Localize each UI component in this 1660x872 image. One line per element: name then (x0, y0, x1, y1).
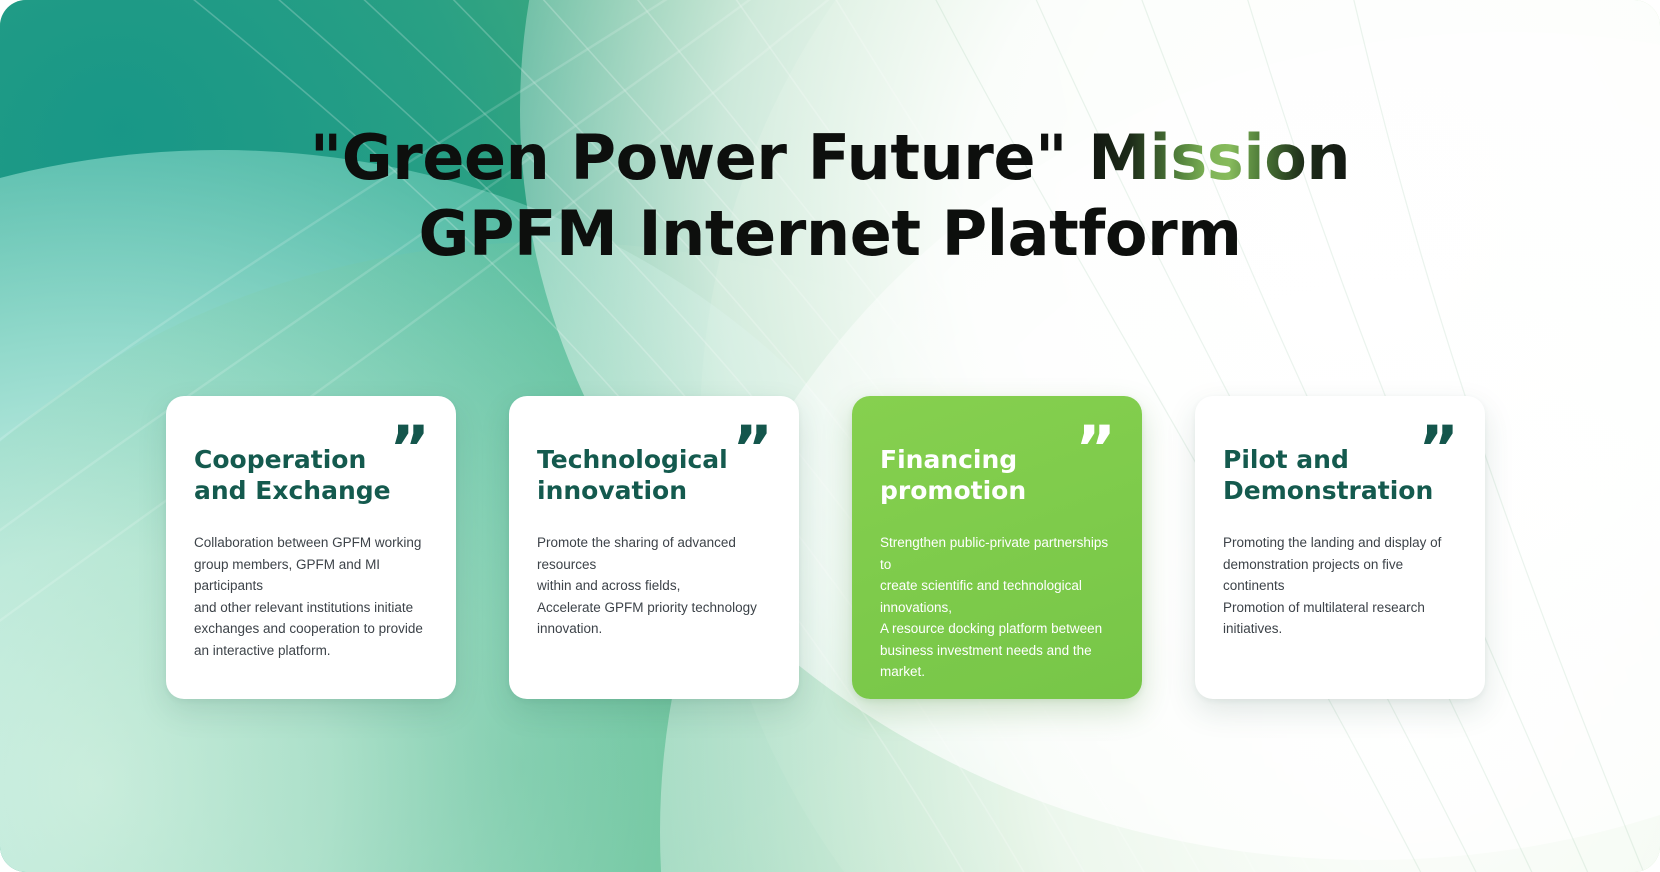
quote-mark-icon: ” (1418, 418, 1459, 480)
feature-card-list: ” Cooperation and Exchange Collaboration… (166, 396, 1485, 699)
feature-card-cooperation-and-exchange[interactable]: ” Cooperation and Exchange Collaboration… (166, 396, 456, 699)
card-body: Promoting the landing and display of dem… (1223, 532, 1457, 640)
quote-mark-icon: ” (732, 418, 773, 480)
card-body: Strengthen public-private partnerships t… (880, 532, 1114, 683)
quote-mark-icon: ” (1075, 418, 1116, 480)
quote-mark-icon: ” (389, 418, 430, 480)
slide-canvas: "Green Power Future" Mission GPFM Intern… (0, 0, 1660, 872)
card-body: Collaboration between GPFM working group… (194, 532, 428, 661)
feature-card-pilot-and-demonstration[interactable]: ” Pilot and Demonstration Promoting the … (1195, 396, 1485, 699)
feature-card-financing-promotion[interactable]: ” Financing promotion Strengthen public-… (852, 396, 1142, 699)
feature-card-technological-innovation[interactable]: ” Technological innovation Promote the s… (509, 396, 799, 699)
card-body: Promote the sharing of advanced resource… (537, 532, 771, 640)
